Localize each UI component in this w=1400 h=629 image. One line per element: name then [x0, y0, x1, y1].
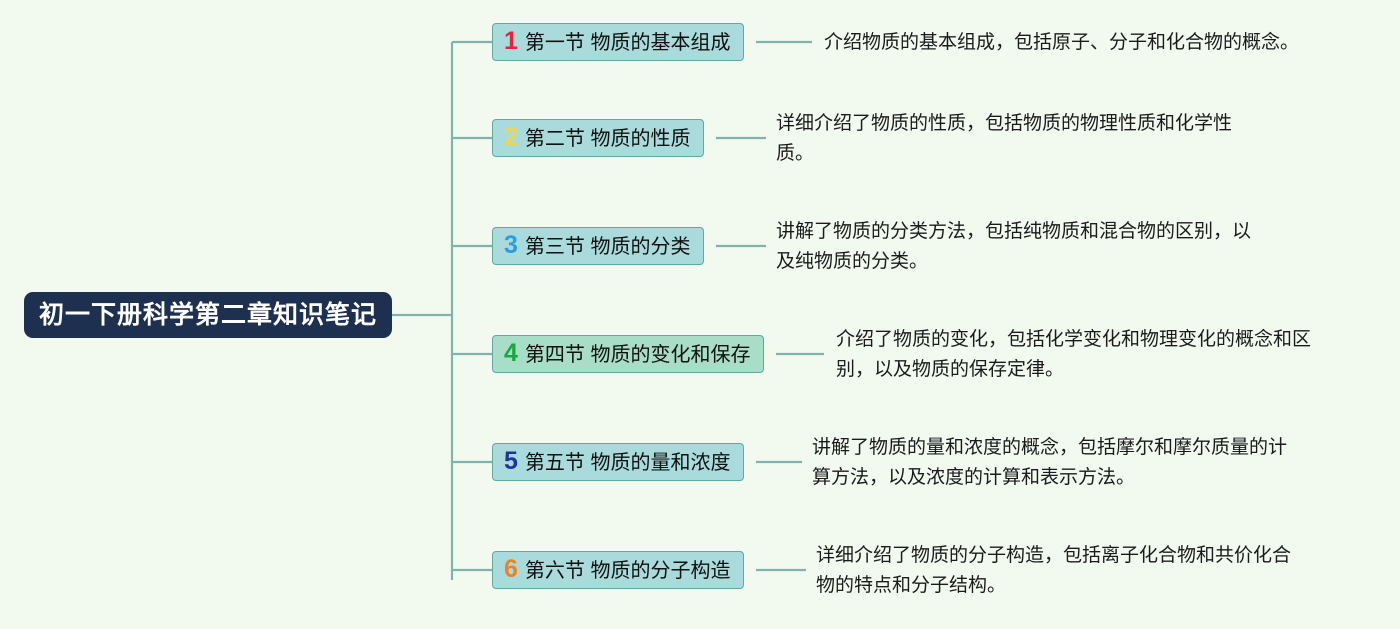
- root-node[interactable]: 初一下册科学第二章知识笔记: [24, 292, 392, 338]
- topic-description-3: 讲解了物质的分类方法，包括纯物质和混合物的区别，以 及纯物质的分类。: [776, 217, 1251, 277]
- topic-node-6[interactable]: 6 第六节 物质的分子构造: [492, 551, 744, 589]
- topic-node-4[interactable]: 4 第四节 物质的变化和保存: [492, 335, 764, 373]
- topic-node-3[interactable]: 3 第三节 物质的分类: [492, 227, 704, 265]
- topic-node-5[interactable]: 5 第五节 物质的量和浓度: [492, 443, 744, 481]
- root-node-label: 初一下册科学第二章知识笔记: [39, 303, 377, 328]
- topic-node-2[interactable]: 2 第二节 物质的性质: [492, 119, 704, 157]
- topic-label-5: 第五节 物质的量和浓度: [525, 453, 731, 473]
- topic-label-4: 第四节 物质的变化和保存: [525, 345, 751, 365]
- topic-number-6: 6: [504, 557, 518, 582]
- topic-number-4: 4: [504, 341, 518, 366]
- topic-number-5: 5: [504, 449, 518, 474]
- topic-description-1: 介绍物质的基本组成，包括原子、分子和化合物的概念。: [824, 28, 1299, 58]
- topic-description-2: 详细介绍了物质的性质，包括物质的物理性质和化学性 质。: [776, 109, 1232, 169]
- topic-label-3: 第三节 物质的分类: [525, 237, 691, 257]
- topic-node-1[interactable]: 1 第一节 物质的基本组成: [492, 23, 744, 61]
- mindmap-canvas: 初一下册科学第二章知识笔记 1 第一节 物质的基本组成 介绍物质的基本组成，包括…: [0, 0, 1400, 629]
- topic-description-6: 详细介绍了物质的分子构造，包括离子化合物和共价化合 物的特点和分子结构。: [816, 541, 1291, 601]
- topic-description-5: 讲解了物质的量和浓度的概念，包括摩尔和摩尔质量的计 算方法，以及浓度的计算和表示…: [812, 433, 1287, 493]
- topic-number-2: 2: [504, 125, 518, 150]
- topic-number-1: 1: [504, 29, 518, 54]
- topic-label-2: 第二节 物质的性质: [525, 129, 691, 149]
- topic-number-3: 3: [504, 233, 518, 258]
- topic-label-1: 第一节 物质的基本组成: [525, 33, 731, 53]
- topic-label-6: 第六节 物质的分子构造: [525, 561, 731, 581]
- topic-description-4: 介绍了物质的变化，包括化学变化和物理变化的概念和区 别，以及物质的保存定律。: [836, 325, 1311, 385]
